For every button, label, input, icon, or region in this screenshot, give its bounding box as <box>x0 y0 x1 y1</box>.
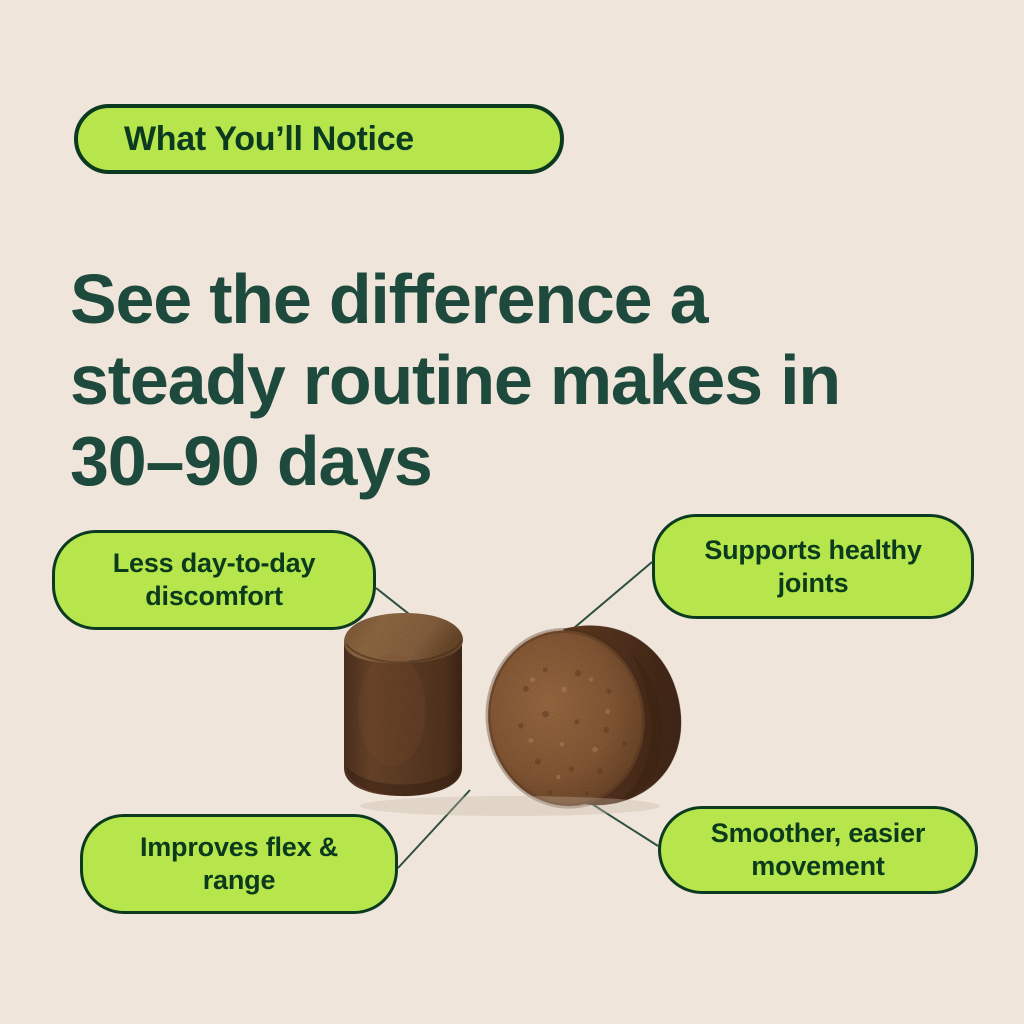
page-title: See the difference a steady routine make… <box>70 259 970 503</box>
benefit-pill-easier-movement[interactable]: Smoother, easier movement <box>658 806 978 894</box>
benefit-pill-flex-range[interactable]: Improves flex & range <box>80 814 398 914</box>
headline-line-1: See the difference a <box>70 259 970 340</box>
benefit-pill-less-discomfort[interactable]: Less day-to-day discomfort <box>52 530 376 630</box>
poster-canvas: What You’ll Notice See the difference a … <box>0 0 1024 1024</box>
chew-right-round <box>477 614 693 820</box>
benefit-pill-healthy-joints[interactable]: Supports healthy joints <box>652 514 974 619</box>
headline-line-2: steady routine makes in <box>70 340 970 421</box>
product-image-soft-chews <box>330 600 700 830</box>
chew-left-cylinder <box>344 613 463 796</box>
headline-line-3: 30–90 days <box>70 421 970 502</box>
eyebrow-badge: What You’ll Notice <box>74 104 564 174</box>
eyebrow-label: What You’ll Notice <box>124 122 414 156</box>
benefit-pill-label: Smoother, easier movement <box>679 817 957 883</box>
benefit-pill-label: Less day-to-day discomfort <box>73 547 355 613</box>
benefit-pill-label: Improves flex & range <box>101 831 377 897</box>
benefit-pill-label: Supports healthy joints <box>673 534 953 600</box>
